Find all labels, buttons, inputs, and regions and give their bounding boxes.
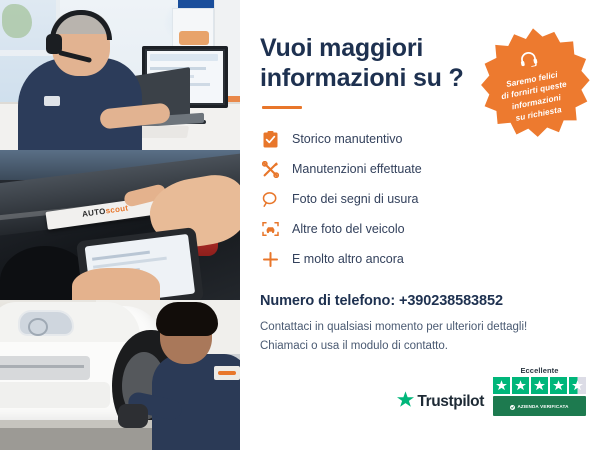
trustpilot-score-block: Eccellente AZIENDA VERIFICATA	[493, 366, 586, 416]
vehicle-scan-icon	[260, 221, 280, 237]
photo-column: AUTOscout	[0, 0, 240, 450]
bumper-decor	[0, 382, 110, 408]
list-item: Foto dei segni di usura	[260, 185, 578, 213]
grille-decor	[0, 356, 90, 380]
check-circle-icon	[510, 397, 515, 415]
page-title: Vuoi maggiori informazioni su ?	[260, 34, 490, 93]
mechanic-wheel-inspection-photo	[0, 300, 240, 450]
list-item: E molto altro ancora	[260, 245, 578, 273]
plus-icon	[260, 251, 280, 268]
poster-decor	[172, 8, 214, 50]
magnifier-icon	[260, 191, 280, 208]
list-item-label: Storico manutentivo	[292, 132, 402, 146]
plant-decor	[2, 4, 32, 38]
trustpilot-rating-word: Eccellente	[520, 366, 558, 375]
phone-number-label[interactable]: Numero di telefono: +390238583852	[260, 293, 578, 309]
verified-company-badge: AZIENDA VERIFICATA	[493, 396, 586, 416]
second-hand-decor	[72, 268, 160, 300]
lift-platform-decor	[0, 428, 170, 450]
star-filled-icon	[493, 377, 510, 394]
trustpilot-rating-widget[interactable]: Trustpilot Eccellente	[397, 366, 586, 416]
star-filled-icon	[550, 377, 567, 394]
feature-list: Storico manutentivo Manutenzioni effettu…	[260, 125, 578, 273]
starburst-shape	[474, 26, 592, 144]
list-item-label: Manutenzioni effettuate	[292, 162, 422, 176]
contact-description-line-2: Chiamaci o usa il modulo di contatto.	[260, 340, 448, 352]
tools-cross-icon	[260, 161, 280, 178]
mechanic-hair	[156, 302, 218, 336]
clipboard-check-icon	[260, 131, 280, 148]
star-filled-icon	[531, 377, 548, 394]
uniform-logo-decor	[214, 366, 240, 380]
verified-company-label: AZIENDA VERIFICATA	[517, 404, 568, 409]
list-item: Manutenzioni effettuate	[260, 155, 578, 183]
list-item-label: Foto dei segni di usura	[292, 192, 418, 206]
star-filled-icon	[512, 377, 529, 394]
trustpilot-star-icon	[397, 391, 414, 413]
agent-badge-decor	[44, 96, 60, 106]
glove-decor	[118, 404, 148, 428]
list-item-label: E molto altro ancora	[292, 252, 404, 266]
trustpilot-stars	[493, 377, 586, 394]
headlight-decor	[18, 310, 74, 336]
title-underline-rule	[262, 106, 302, 109]
promo-banner: AUTOscout	[0, 0, 600, 450]
headline-line-2: informazioni su ?	[260, 64, 464, 92]
list-item: Altre foto del veicolo	[260, 215, 578, 243]
paint-thickness-measurement-photo: AUTOscout	[0, 150, 240, 300]
contact-description: Contattaci in qualsiasi momento per ulte…	[260, 318, 578, 355]
headline-line-1: Vuoi maggiori	[260, 34, 423, 62]
status-badge: Saremo felici di fornirti queste informa…	[474, 26, 592, 144]
call-center-agent-with-headset-photo	[0, 0, 240, 150]
star-half-icon	[569, 377, 586, 394]
contact-description-line-1: Contattaci in qualsiasi momento per ulte…	[260, 321, 527, 333]
content-panel: Vuoi maggiori informazioni su ? Storico …	[240, 0, 600, 450]
trustpilot-logo: Trustpilot	[397, 391, 484, 416]
list-item-label: Altre foto del veicolo	[292, 222, 405, 236]
trustpilot-wordmark: Trustpilot	[417, 393, 484, 411]
